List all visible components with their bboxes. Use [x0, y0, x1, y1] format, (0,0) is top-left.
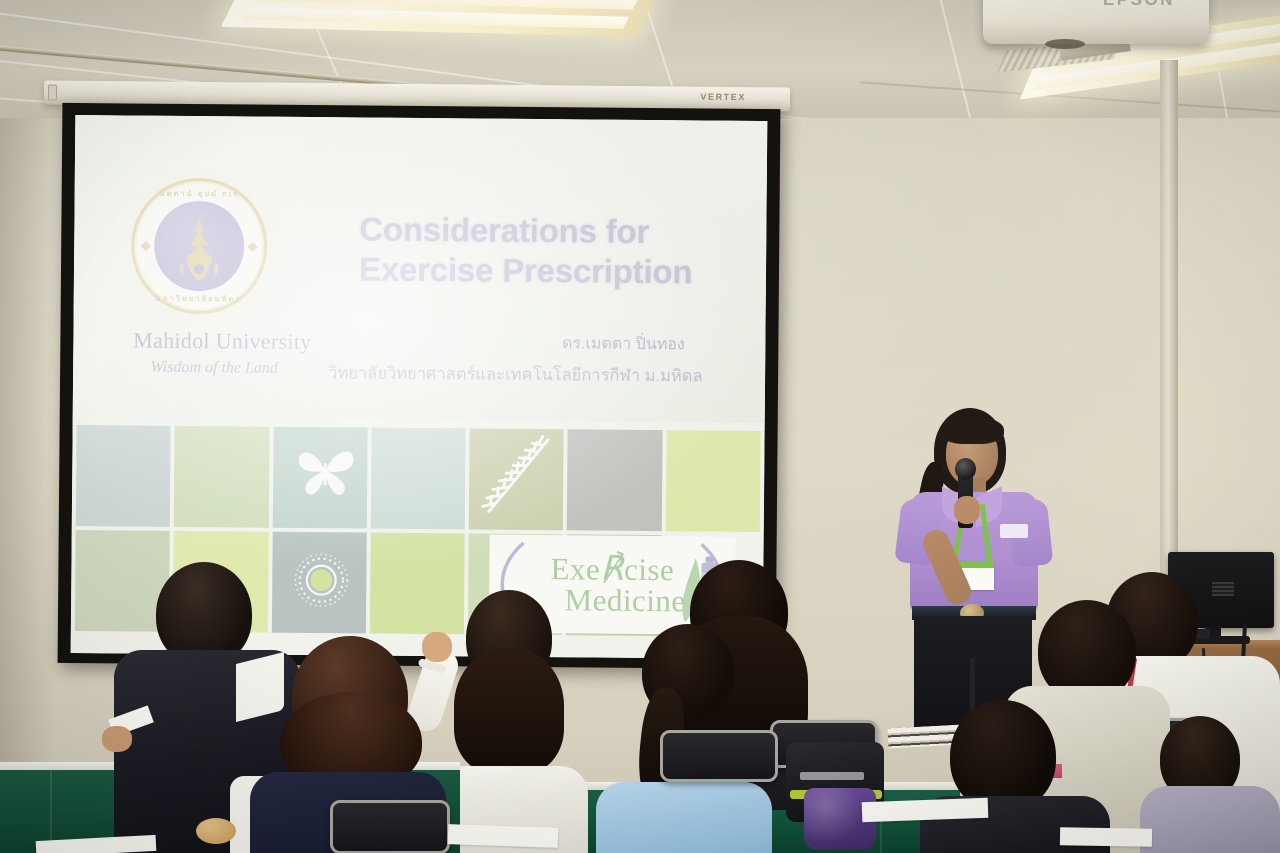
projector-lens: [1045, 39, 1085, 49]
audience-member: [1150, 716, 1280, 853]
audience-hair: [454, 648, 564, 774]
presenter-hand: [954, 496, 980, 524]
screen-brand-label: VERTEX: [700, 92, 746, 102]
bread-roll: [196, 818, 236, 844]
mosaic-tile: [174, 426, 269, 528]
presenter-hair-fringe: [940, 416, 1004, 444]
slide-title: Considerations for Exercise Prescription: [359, 209, 750, 293]
university-name: Mahidol University: [87, 327, 357, 355]
logo-text-part-1: Exe: [550, 551, 600, 586]
mosaic-tile: [76, 425, 171, 527]
conference-room-photo: EPSON VERTEX อตฺตานํ อุปมํ กเร มหาวิทยาล…: [0, 0, 1280, 853]
slide-title-line-1: Considerations for: [359, 209, 749, 253]
mosaic-tile: [371, 428, 466, 530]
wall-conduit: [1160, 60, 1178, 620]
backpack-label: [800, 772, 864, 780]
fern-leaf-icon: [475, 433, 562, 520]
mosaic-tile: [665, 430, 760, 532]
seal-motto-top: อตฺตานํ อุปมํ กเร: [135, 188, 265, 201]
audience-body: [1140, 786, 1280, 853]
projector-brand-label: EPSON: [1103, 0, 1175, 10]
paper-sheet: [1060, 827, 1152, 847]
mosaic-tile-butterfly: [272, 427, 367, 529]
mosaic-tile: [567, 429, 662, 531]
university-tagline: Wisdom of the Land: [99, 358, 329, 378]
mahidol-university-seal: อตฺตานํ อุปมํ กเร มหาวิทยาลัยมหิดล: [131, 177, 268, 314]
wall-shadow-left: [0, 60, 55, 780]
slide-title-line-2: Exercise Prescription: [359, 250, 749, 294]
mosaic-tile-fern: [469, 428, 564, 530]
ceiling-projector: EPSON: [983, 0, 1209, 44]
stupa-emblem-icon: [172, 217, 227, 283]
chair: [660, 730, 778, 782]
audience-hand: [102, 726, 132, 752]
speaker-name: ดร.เมตตา ปิ่นทอง: [473, 330, 767, 358]
speaker-affiliation: วิทยาลัยวิทยาศาสตร์และเทคโนโลยีการกีฬา ม…: [328, 360, 767, 390]
seal-motto-bottom: มหาวิทยาลัยมหิดล: [134, 293, 264, 306]
chair: [330, 800, 450, 853]
paper-sheet: [448, 824, 559, 848]
microphone-head-icon: [955, 458, 976, 480]
presenter-chest-badge: [1000, 524, 1028, 538]
audience-body: [596, 782, 772, 853]
butterfly-icon: [289, 435, 360, 506]
